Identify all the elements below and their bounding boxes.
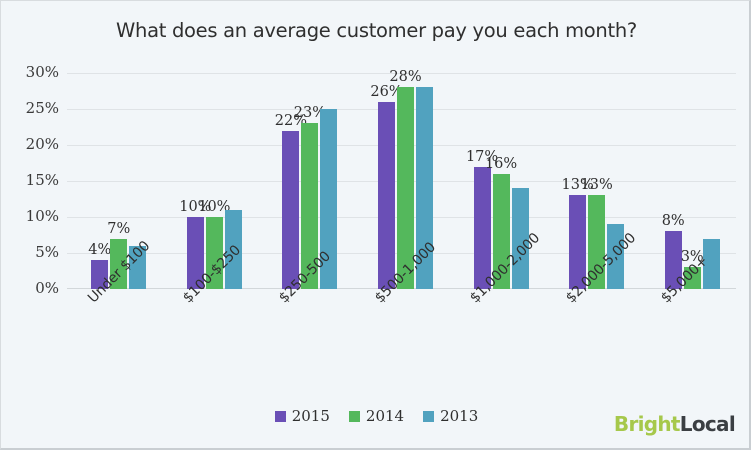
chart-card: What does an average customer pay you ea…	[0, 0, 751, 450]
logo-bright-text: Bright	[614, 412, 680, 436]
y-axis-tick-label: 25%	[7, 99, 59, 117]
legend-swatch	[275, 411, 286, 422]
bar-value-label: 7%	[99, 221, 139, 237]
bar[interactable]	[378, 102, 395, 289]
y-axis-tick-label: 15%	[7, 171, 59, 189]
legend-label: 2015	[292, 407, 330, 425]
legend-item[interactable]: 2013	[423, 407, 478, 425]
bar-value-label: 16%	[481, 156, 521, 172]
legend-label: 2014	[366, 407, 404, 425]
bar-value-label: 8%	[653, 213, 693, 229]
y-axis-tick-label: 0%	[7, 279, 59, 297]
y-axis-tick-label: 5%	[7, 243, 59, 261]
bar[interactable]	[282, 131, 299, 289]
y-axis-tick-label: 10%	[7, 207, 59, 225]
logo-local-text: Local	[680, 412, 735, 436]
legend-swatch	[423, 411, 434, 422]
bar-value-label: 28%	[386, 69, 426, 85]
bar[interactable]	[474, 167, 491, 289]
y-axis-tick-label: 20%	[7, 135, 59, 153]
legend-item[interactable]: 2015	[275, 407, 330, 425]
legend-item[interactable]: 2014	[349, 407, 404, 425]
plot-area: 4%7%10%10%22%23%26%28%17%16%13%13%8%3%	[67, 73, 736, 289]
y-axis-tick-label: 30%	[7, 63, 59, 81]
chart-title: What does an average customer pay you ea…	[1, 19, 751, 42]
bar-group: 8%3%	[665, 73, 720, 289]
legend-label: 2013	[440, 407, 478, 425]
brightlocal-logo: BrightLocal	[614, 412, 735, 436]
legend-swatch	[349, 411, 360, 422]
bar-value-label: 13%	[577, 177, 617, 193]
